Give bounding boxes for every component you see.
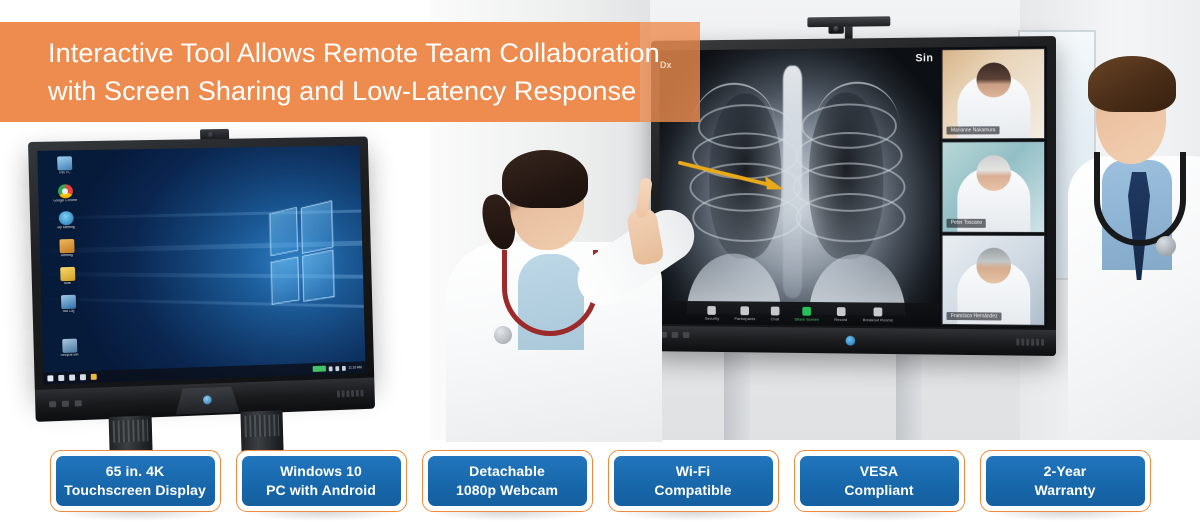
- vent-slot: [1016, 339, 1019, 346]
- feature-badge[interactable]: Windows 10 PC with Android: [236, 450, 407, 512]
- search-icon[interactable]: [58, 375, 64, 381]
- toolbar-button-participants[interactable]: Participants: [734, 306, 755, 321]
- windows-desktop-screen[interactable]: This PC Google Chrome My Meeting Meeting: [37, 145, 365, 384]
- desktop-icon-google-chrome[interactable]: Google Chrome: [44, 184, 86, 204]
- volume-icon[interactable]: [335, 366, 339, 371]
- chat-icon: [771, 306, 780, 315]
- display-bezel-right: Sin Marianne Nakamura Peter Toscano: [651, 36, 1056, 356]
- badge-line-1: Windows 10: [280, 463, 362, 480]
- annotation-arrow: [676, 154, 787, 198]
- desktop-icon-recycle-bin[interactable]: Recycle Bin: [48, 338, 90, 358]
- meeting-toolbar: Security Participants Chat Share Screen: [659, 301, 940, 327]
- share-screen-icon: [802, 306, 811, 315]
- desktop-icon-label: Recycle Bin: [61, 354, 79, 358]
- toolbar-label: Chat: [771, 316, 779, 321]
- meeting-app-icon: [59, 239, 74, 253]
- network-icon[interactable]: [329, 366, 333, 371]
- badge-line-2: Compatible: [654, 482, 731, 499]
- badge-line-1: Detachable: [469, 463, 545, 480]
- video-tile[interactable]: Marianne Nakamura: [942, 48, 1045, 140]
- store-icon[interactable]: [91, 374, 97, 380]
- doctor-hair: [502, 150, 588, 208]
- feature-badge[interactable]: 2-Year Warranty: [980, 450, 1151, 512]
- stand-leg-right: [896, 352, 922, 440]
- desktop-icon-tool-log[interactable]: Tool Log: [47, 294, 89, 314]
- stethoscope-bell-icon: [494, 326, 512, 344]
- desktop-icon-label: Google Chrome: [53, 199, 77, 203]
- port-icon: [62, 401, 69, 407]
- start-button-icon[interactable]: [47, 375, 53, 381]
- feature-badge-inner: Wi-Fi Compatible: [613, 455, 774, 507]
- display-chin-bar-right: [651, 326, 1056, 356]
- toolbar-button-chat[interactable]: Chat: [771, 306, 780, 321]
- interactive-display-left[interactable]: This PC Google Chrome My Meeting Meeting: [28, 136, 394, 432]
- badge-line-2: PC with Android: [266, 482, 376, 499]
- feature-badge-row: 65 in. 4K Touchscreen Display Windows 10…: [0, 440, 1200, 522]
- participants-icon: [741, 306, 750, 315]
- this-pc-icon: [57, 156, 72, 170]
- badge-line-2: 1080p Webcam: [456, 482, 558, 499]
- webcam-mount-arm: [845, 25, 853, 39]
- recycle-bin-icon: [62, 339, 77, 353]
- speaker-vents-right: [1016, 339, 1044, 346]
- webcam-body: [807, 16, 890, 27]
- desktop-icon-label: Note: [64, 282, 71, 286]
- doctor-hair: [1088, 56, 1176, 112]
- vent-slot: [1031, 339, 1034, 346]
- desktop-icon-label: Tool Log: [62, 309, 75, 313]
- badge-line-2: Touchscreen Display: [64, 482, 206, 499]
- desktop-icon-note[interactable]: Note: [46, 266, 88, 286]
- interactive-display-right[interactable]: Sin Marianne Nakamura Peter Toscano: [651, 36, 1056, 356]
- feature-badge-inner: 65 in. 4K Touchscreen Display: [55, 455, 216, 507]
- stand-leg-left: [724, 352, 750, 440]
- vent-slot: [337, 390, 340, 397]
- stethoscope-bell-icon: [1156, 236, 1176, 256]
- feature-badge[interactable]: Detachable 1080p Webcam: [422, 450, 593, 512]
- battery-icon[interactable]: [313, 366, 326, 372]
- task-view-icon[interactable]: [69, 375, 75, 381]
- record-icon: [837, 307, 846, 316]
- video-tile[interactable]: Francisco Hernández: [942, 234, 1045, 326]
- xray-rib: [692, 193, 801, 243]
- windows-logo-pane: [302, 249, 334, 301]
- headline-line-2: with Screen Sharing and Low-Latency Resp…: [48, 72, 640, 110]
- desktop-icon-label: This PC: [58, 171, 70, 175]
- badge-line-1: Wi-Fi: [676, 463, 711, 480]
- taskbar-pinned-group: [47, 374, 96, 382]
- product-hero-banner: Sin Marianne Nakamura Peter Toscano: [0, 0, 1200, 522]
- toolbar-label: Breakout Rooms: [863, 317, 893, 322]
- brand-logo-icon-right: [846, 336, 856, 346]
- speaker-vents-left: [337, 390, 364, 398]
- toolbar-button-record[interactable]: Record: [834, 307, 847, 322]
- feature-badge[interactable]: 65 in. 4K Touchscreen Display: [50, 450, 221, 512]
- display-screen-right[interactable]: Sin Marianne Nakamura Peter Toscano: [659, 46, 1047, 328]
- vent-slot: [346, 390, 349, 397]
- doctor-observer-male: [1068, 48, 1200, 440]
- toolbar-button-share-screen[interactable]: Share Screen: [794, 306, 819, 321]
- video-tile[interactable]: Peter Toscano: [942, 141, 1045, 232]
- display-bezel-left: This PC Google Chrome My Meeting Meeting: [28, 136, 374, 393]
- vent-slot: [356, 390, 359, 397]
- port-group-left: [49, 400, 82, 407]
- toolbar-label: Participants: [734, 316, 755, 321]
- participant-head: [976, 248, 1010, 284]
- desktop-icon-my-meeting[interactable]: My Meeting: [45, 211, 87, 231]
- port-icon: [49, 401, 56, 407]
- badge-line-2: Warranty: [1035, 482, 1096, 499]
- vent-slot: [342, 390, 345, 397]
- desktop-icon-label: My Meeting: [57, 226, 74, 230]
- feature-badge-inner: Detachable 1080p Webcam: [427, 455, 588, 507]
- desktop-icon-label: Meeting: [61, 254, 73, 258]
- windows-logo-pane: [269, 207, 298, 256]
- video-conference-panel: Marianne Nakamura Peter Toscano Francisc…: [940, 46, 1047, 328]
- badge-line-1: 2-Year: [1044, 463, 1087, 480]
- webcam-lens-icon: [829, 23, 844, 34]
- vent-slot: [1041, 339, 1044, 346]
- toolbar-label: Record: [834, 316, 847, 321]
- vent-slot: [1036, 339, 1039, 346]
- detachable-webcam-right: [807, 16, 890, 39]
- port-icon: [75, 400, 82, 406]
- badge-line-1: VESA: [860, 463, 899, 480]
- taskbar-system-tray: 11:10 AM: [313, 364, 362, 372]
- vent-slot: [360, 390, 363, 397]
- xray-rib: [795, 193, 905, 243]
- participant-name-label: Francisco Hernández: [947, 312, 1002, 321]
- desktop-icon-list: This PC Google Chrome My Meeting Meeting: [43, 156, 89, 314]
- toolbar-button-breakout-rooms[interactable]: Breakout Rooms: [863, 307, 893, 322]
- doctor-presenter-female: [432, 150, 662, 440]
- windows-logo-wallpaper: [269, 198, 335, 306]
- toolbar-button-security[interactable]: Security: [705, 306, 719, 321]
- tool-icon: [60, 294, 75, 308]
- windows-logo-pane: [270, 256, 299, 304]
- vent-slot: [351, 390, 354, 397]
- headline-line-1: Interactive Tool Allows Remote Team Coll…: [48, 34, 640, 72]
- feature-badge-inner: VESA Compliant: [799, 455, 960, 507]
- security-icon: [708, 306, 716, 315]
- port-group-right: [660, 332, 689, 338]
- vent-slot: [1021, 339, 1024, 346]
- google-chrome-icon: [57, 184, 72, 198]
- headline-banner: Interactive Tool Allows Remote Team Coll…: [0, 22, 640, 122]
- feature-badge-inner: 2-Year Warranty: [985, 455, 1146, 507]
- participant-name-label: Peter Toscano: [947, 219, 986, 227]
- vent-slot: [1026, 339, 1029, 346]
- my-meeting-icon: [58, 212, 73, 226]
- notes-icon: [60, 267, 75, 281]
- stethoscope-black: [1094, 152, 1186, 246]
- folder-icon[interactable]: [80, 374, 86, 380]
- tray-chevron-icon[interactable]: [342, 365, 346, 370]
- windows-logo-pane: [301, 200, 333, 254]
- display-floor-stand: [700, 352, 1000, 442]
- port-icon: [672, 332, 679, 338]
- feature-badge-inner: Windows 10 PC with Android: [241, 455, 402, 507]
- participant-head: [976, 155, 1010, 191]
- xray-marker-dx: Dx: [660, 60, 672, 70]
- xray-marker-sin: Sin: [915, 52, 933, 64]
- participant-head: [976, 62, 1010, 98]
- port-icon: [683, 332, 690, 338]
- desktop-icon-this-pc[interactable]: This PC: [43, 156, 85, 175]
- chest-xray-image[interactable]: Sin: [659, 47, 940, 327]
- headline-banner-fade: [640, 22, 700, 122]
- badge-line-2: Compliant: [844, 482, 913, 499]
- taskbar-clock[interactable]: 11:10 AM: [348, 365, 361, 369]
- desktop-icon-meeting[interactable]: Meeting: [46, 239, 88, 259]
- feature-badge[interactable]: Wi-Fi Compatible: [608, 450, 779, 512]
- breakout-rooms-icon: [874, 307, 883, 316]
- toolbar-label: Share Screen: [794, 316, 819, 321]
- badge-line-1: 65 in. 4K: [106, 463, 164, 480]
- participant-name-label: Marianne Nakamura: [947, 126, 999, 134]
- feature-badge[interactable]: VESA Compliant: [794, 450, 965, 512]
- toolbar-label: Security: [705, 315, 719, 320]
